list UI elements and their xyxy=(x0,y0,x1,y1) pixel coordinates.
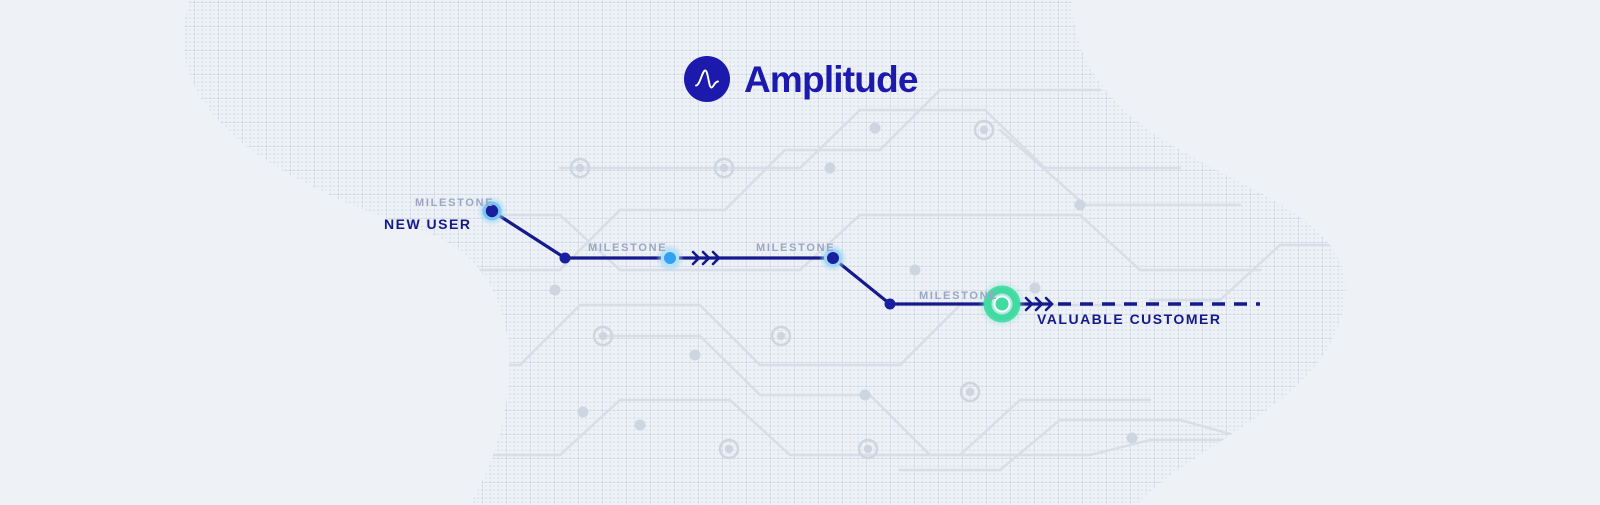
milestone-kicker-4: MILESTONE xyxy=(919,290,998,302)
milestone-kicker-1: MILESTONE xyxy=(415,197,494,209)
milestone-node-valuable-customer[interactable] xyxy=(978,280,1026,328)
milestone-kicker-3: MILESTONE xyxy=(756,242,835,254)
milestone-title-valuable-customer: VALUABLE CUSTOMER xyxy=(1037,311,1221,327)
journey-corner-dot-2 xyxy=(885,299,896,310)
journey-corner-dot xyxy=(560,253,571,264)
milestone-title-new-user: NEW USER xyxy=(384,216,471,232)
milestone-kicker-2: MILESTONE xyxy=(588,242,667,254)
hero-banner: Amplitude xyxy=(0,0,1600,505)
